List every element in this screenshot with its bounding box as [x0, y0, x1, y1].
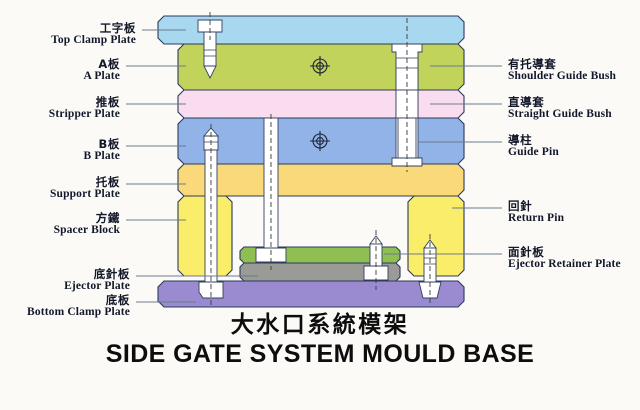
label-ejector-retainer-plate-en: Ejector Retainer Plate	[508, 258, 621, 270]
label-stripper-plate-cn: 推板	[49, 96, 120, 108]
diagram-title: 大水口系統模架 SIDE GATE SYSTEM MOULD BASE	[0, 312, 640, 368]
label-ejector-retainer-plate-cn: 面針板	[508, 246, 621, 258]
label-straight-guide-bush-en: Straight Guide Bush	[508, 108, 612, 120]
label-stripper-plate: 推板Stripper Plate	[49, 96, 120, 120]
label-support-plate: 托板Support Plate	[50, 176, 120, 200]
label-ejector-retainer-plate: 面針板Ejector Retainer Plate	[508, 246, 621, 270]
mould-base-diagram: .pl{stroke:#2b3a5c;stroke-width:1.1;} .m…	[0, 0, 640, 410]
label-b-plate: B板B Plate	[84, 138, 121, 162]
label-support-plate-en: Support Plate	[50, 188, 120, 200]
label-support-plate-cn: 托板	[50, 176, 120, 188]
plate-stripper-plate	[178, 90, 464, 118]
label-return-pin: 回針Return Pin	[508, 200, 564, 224]
label-shoulder-guide-bush-en: Shoulder Guide Bush	[508, 70, 616, 82]
label-stripper-plate-en: Stripper Plate	[49, 108, 120, 120]
label-shoulder-guide-bush: 有托導套Shoulder Guide Bush	[508, 58, 616, 82]
label-guide-pin: 導柱Guide Pin	[508, 134, 559, 158]
label-b-plate-en: B Plate	[84, 150, 121, 162]
label-spacer-block-en: Spacer Block	[54, 224, 120, 236]
label-bottom-clamp-plate-cn: 底板	[27, 294, 130, 306]
label-ejector-plate: 底針板Ejector Plate	[64, 268, 130, 292]
label-a-plate-cn: A板	[84, 58, 121, 70]
label-guide-pin-cn: 導柱	[508, 134, 559, 146]
plate-support-plate	[178, 164, 464, 196]
label-shoulder-guide-bush-cn: 有托導套	[508, 58, 616, 70]
label-b-plate-cn: B板	[84, 138, 121, 150]
label-spacer-block-cn: 方鐵	[54, 212, 120, 224]
label-return-pin-cn: 回針	[508, 200, 564, 212]
title-english: SIDE GATE SYSTEM MOULD BASE	[0, 340, 640, 368]
label-straight-guide-bush-cn: 直導套	[508, 96, 612, 108]
label-return-pin-en: Return Pin	[508, 212, 564, 224]
label-a-plate-en: A Plate	[84, 70, 121, 82]
label-top-clamp-plate: 工字板Top Clamp Plate	[51, 22, 136, 46]
label-ejector-plate-cn: 底針板	[64, 268, 130, 280]
title-chinese: 大水口系統模架	[0, 312, 640, 339]
label-spacer-block: 方鐵Spacer Block	[54, 212, 120, 236]
label-top-clamp-plate-cn: 工字板	[51, 22, 136, 34]
label-ejector-plate-en: Ejector Plate	[64, 280, 130, 292]
label-guide-pin-en: Guide Pin	[508, 146, 559, 158]
label-straight-guide-bush: 直導套Straight Guide Bush	[508, 96, 612, 120]
label-top-clamp-plate-en: Top Clamp Plate	[51, 34, 136, 46]
label-a-plate: A板A Plate	[84, 58, 121, 82]
